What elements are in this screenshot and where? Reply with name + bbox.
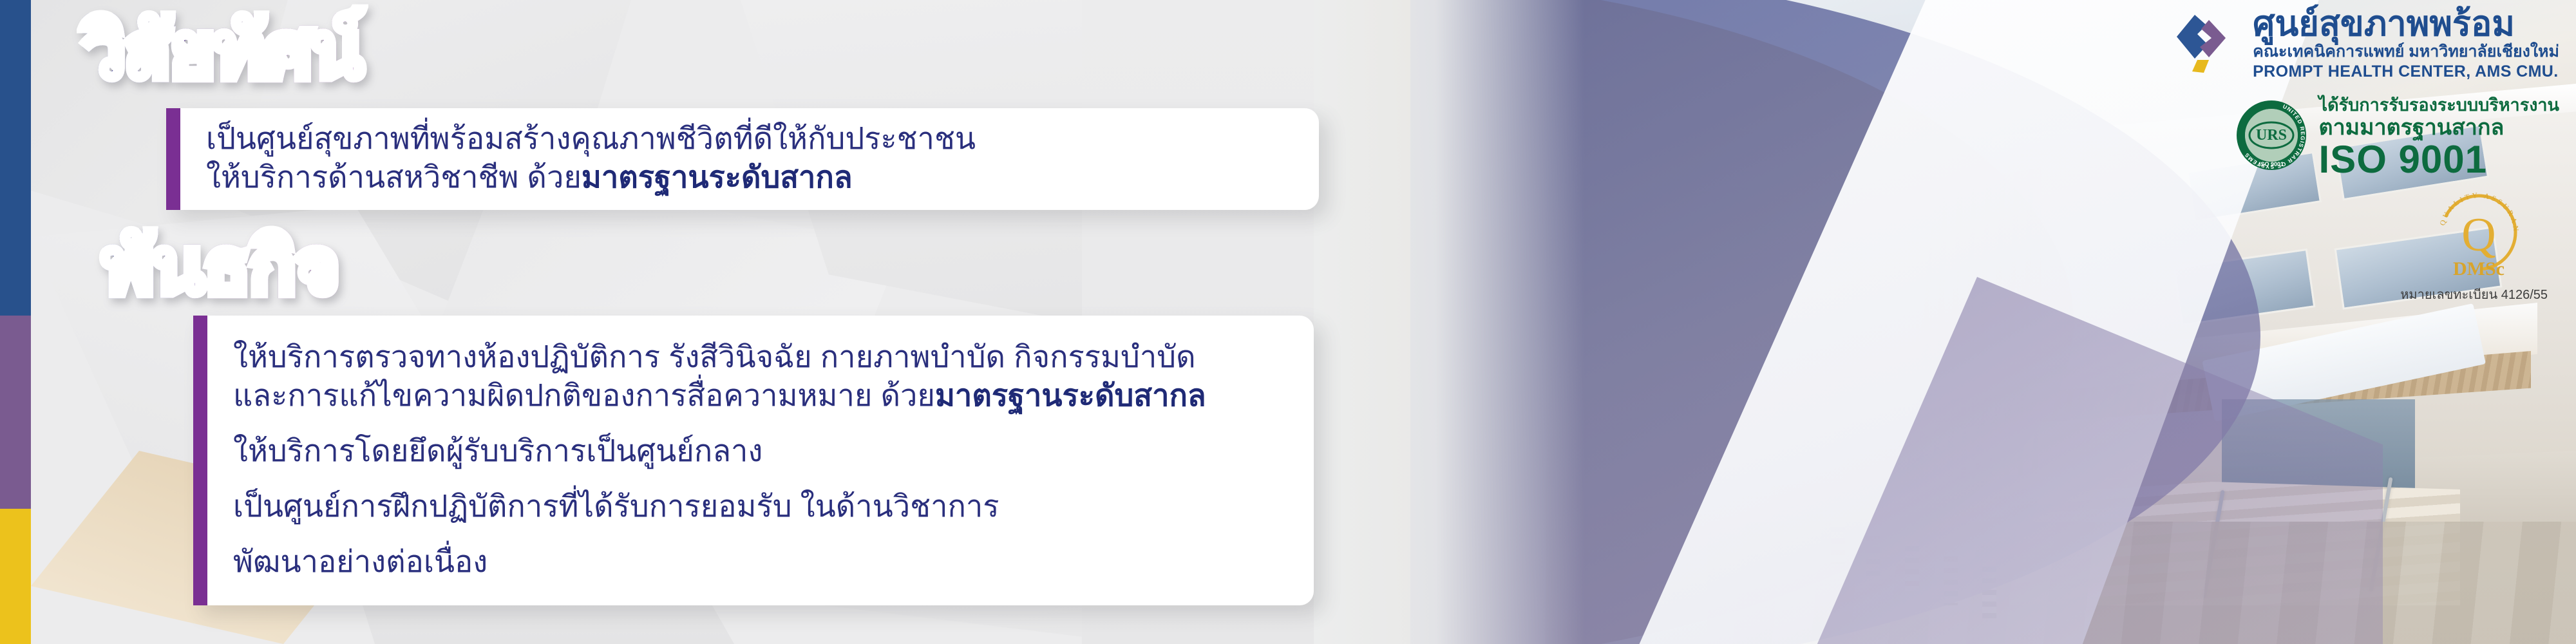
mission-line-4: เป็นศูนย์การฝึกปฏิบัติการที่ได้รับการยอม…: [233, 487, 1206, 526]
mission-card-body: ให้บริการตรวจทางห้องปฏิบัติการ รังสีวินิ…: [207, 316, 1241, 605]
mission-line-2: และการแก้ไขความผิดปกติของการสื่อความหมาย…: [233, 376, 1206, 415]
mission-line-5: พัฒนาอย่างต่อเนื่อง: [233, 542, 1206, 581]
mission-line-1-text: ให้บริการตรวจทางห้องปฏิบัติการ รังสีวินิ…: [233, 339, 1196, 374]
iso-line-3: ISO 9001: [2319, 140, 2560, 179]
svg-text:Q: Q: [2461, 209, 2495, 261]
mission-line-2-bold: มาตรฐานระดับสากล: [935, 378, 1206, 412]
mission-line-3-text: ให้บริการโดยยึดผู้รับบริการเป็นศูนย์กลาง: [233, 433, 762, 468]
logo-subtitle-en: PROMPT HEALTH CENTER, AMS CMU.: [2253, 62, 2559, 82]
vision-heading: วิสัยทัศน์: [82, 13, 363, 89]
mission-heading: พันธกิจ: [103, 229, 339, 305]
quality-assurance-q-icon: Q QUALITY ASSURANCE DMSc: [2432, 185, 2559, 283]
mission-card: ให้บริการตรวจทางห้องปฏิบัติการ รังสีวินิ…: [193, 316, 1314, 605]
iso-line-2: ตามมาตรฐานสากล: [2319, 115, 2560, 140]
organization-logo: ศูนย์สุขภาพพร้อม คณะเทคนิคการแพทย์ มหาวิ…: [1922, 6, 2559, 82]
mission-line-3: ให้บริการโดยยึดผู้รับบริการเป็นศูนย์กลาง: [233, 431, 1206, 470]
mission-line-5-text: พัฒนาอย่างต่อเนื่อง: [233, 544, 488, 578]
svg-text:ISO 9001: ISO 9001: [2259, 161, 2283, 167]
dmsc-quality-assurance-badge: Q QUALITY ASSURANCE DMSc หมายเลขทะเบียน …: [1922, 185, 2559, 305]
content-column: วิสัยทัศน์ เป็นศูนย์สุขภาพที่พร้อมสร้างค…: [0, 0, 1404, 644]
prompt-health-diamond-logo-icon: [2172, 11, 2239, 78]
logo-title: ศูนย์สุขภาพพร้อม: [2253, 6, 2559, 42]
organization-logo-text: ศูนย์สุขภาพพร้อม คณะเทคนิคการแพทย์ มหาวิ…: [2253, 6, 2559, 82]
iso-badge-text: ได้รับการรับรองระบบบริหารงาน ตามมาตรฐานส…: [2319, 95, 2560, 179]
vision-line-2-text: ให้บริการด้านสหวิชาชีพ ด้วย: [206, 160, 582, 194]
vision-line-1: เป็นศูนย์สุขภาพที่พร้อมสร้างคุณภาพชีวิตท…: [206, 119, 976, 158]
certification-badges: ศูนย์สุขภาพพร้อม คณะเทคนิคการแพทย์ มหาวิ…: [1922, 6, 2559, 305]
svg-text:URS: URS: [2255, 127, 2286, 144]
iso-line-1: ได้รับการรับรองระบบบริหารงาน: [2319, 95, 2560, 115]
vision-card-body: เป็นศูนย์สุขภาพที่พร้อมสร้างคุณภาพชีวิตท…: [180, 108, 1010, 210]
iso-9001-badge: URS UNITED REGISTRAR OF SYSTEMS ISO 9001…: [1922, 95, 2559, 179]
mission-line-2-text: และการแก้ไขความผิดปกติของการสื่อความหมาย…: [233, 378, 935, 412]
vision-card-accent-bar: [166, 108, 180, 210]
vision-mission-banner: วิสัยทัศน์ เป็นศูนย์สุขภาพที่พร้อมสร้างค…: [0, 0, 2576, 644]
urs-seal-icon: URS UNITED REGISTRAR OF SYSTEMS ISO 9001: [2235, 99, 2307, 175]
mission-line-4-text: เป็นศูนย์การฝึกปฏิบัติการที่ได้รับการยอม…: [233, 489, 999, 523]
mission-line-1: ให้บริการตรวจทางห้องปฏิบัติการ รังสีวินิ…: [233, 337, 1206, 376]
logo-subtitle-th: คณะเทคนิคการแพทย์ มหาวิทยาลัยเชียงใหม่: [2253, 42, 2559, 62]
svg-text:DMSc: DMSc: [2453, 258, 2505, 279]
vision-card: เป็นศูนย์สุขภาพที่พร้อมสร้างคุณภาพชีวิตท…: [166, 108, 1319, 210]
vision-line-2-bold: มาตรฐานระดับสากล: [582, 160, 853, 194]
vision-line-2: ให้บริการด้านสหวิชาชีพ ด้วยมาตรฐานระดับส…: [206, 158, 976, 196]
vision-line-1-text: เป็นศูนย์สุขภาพที่พร้อมสร้างคุณภาพชีวิตท…: [206, 121, 976, 155]
dmsc-registration-number: หมายเลขทะเบียน 4126/55: [2400, 284, 2559, 305]
mission-card-accent-bar: [193, 316, 207, 605]
